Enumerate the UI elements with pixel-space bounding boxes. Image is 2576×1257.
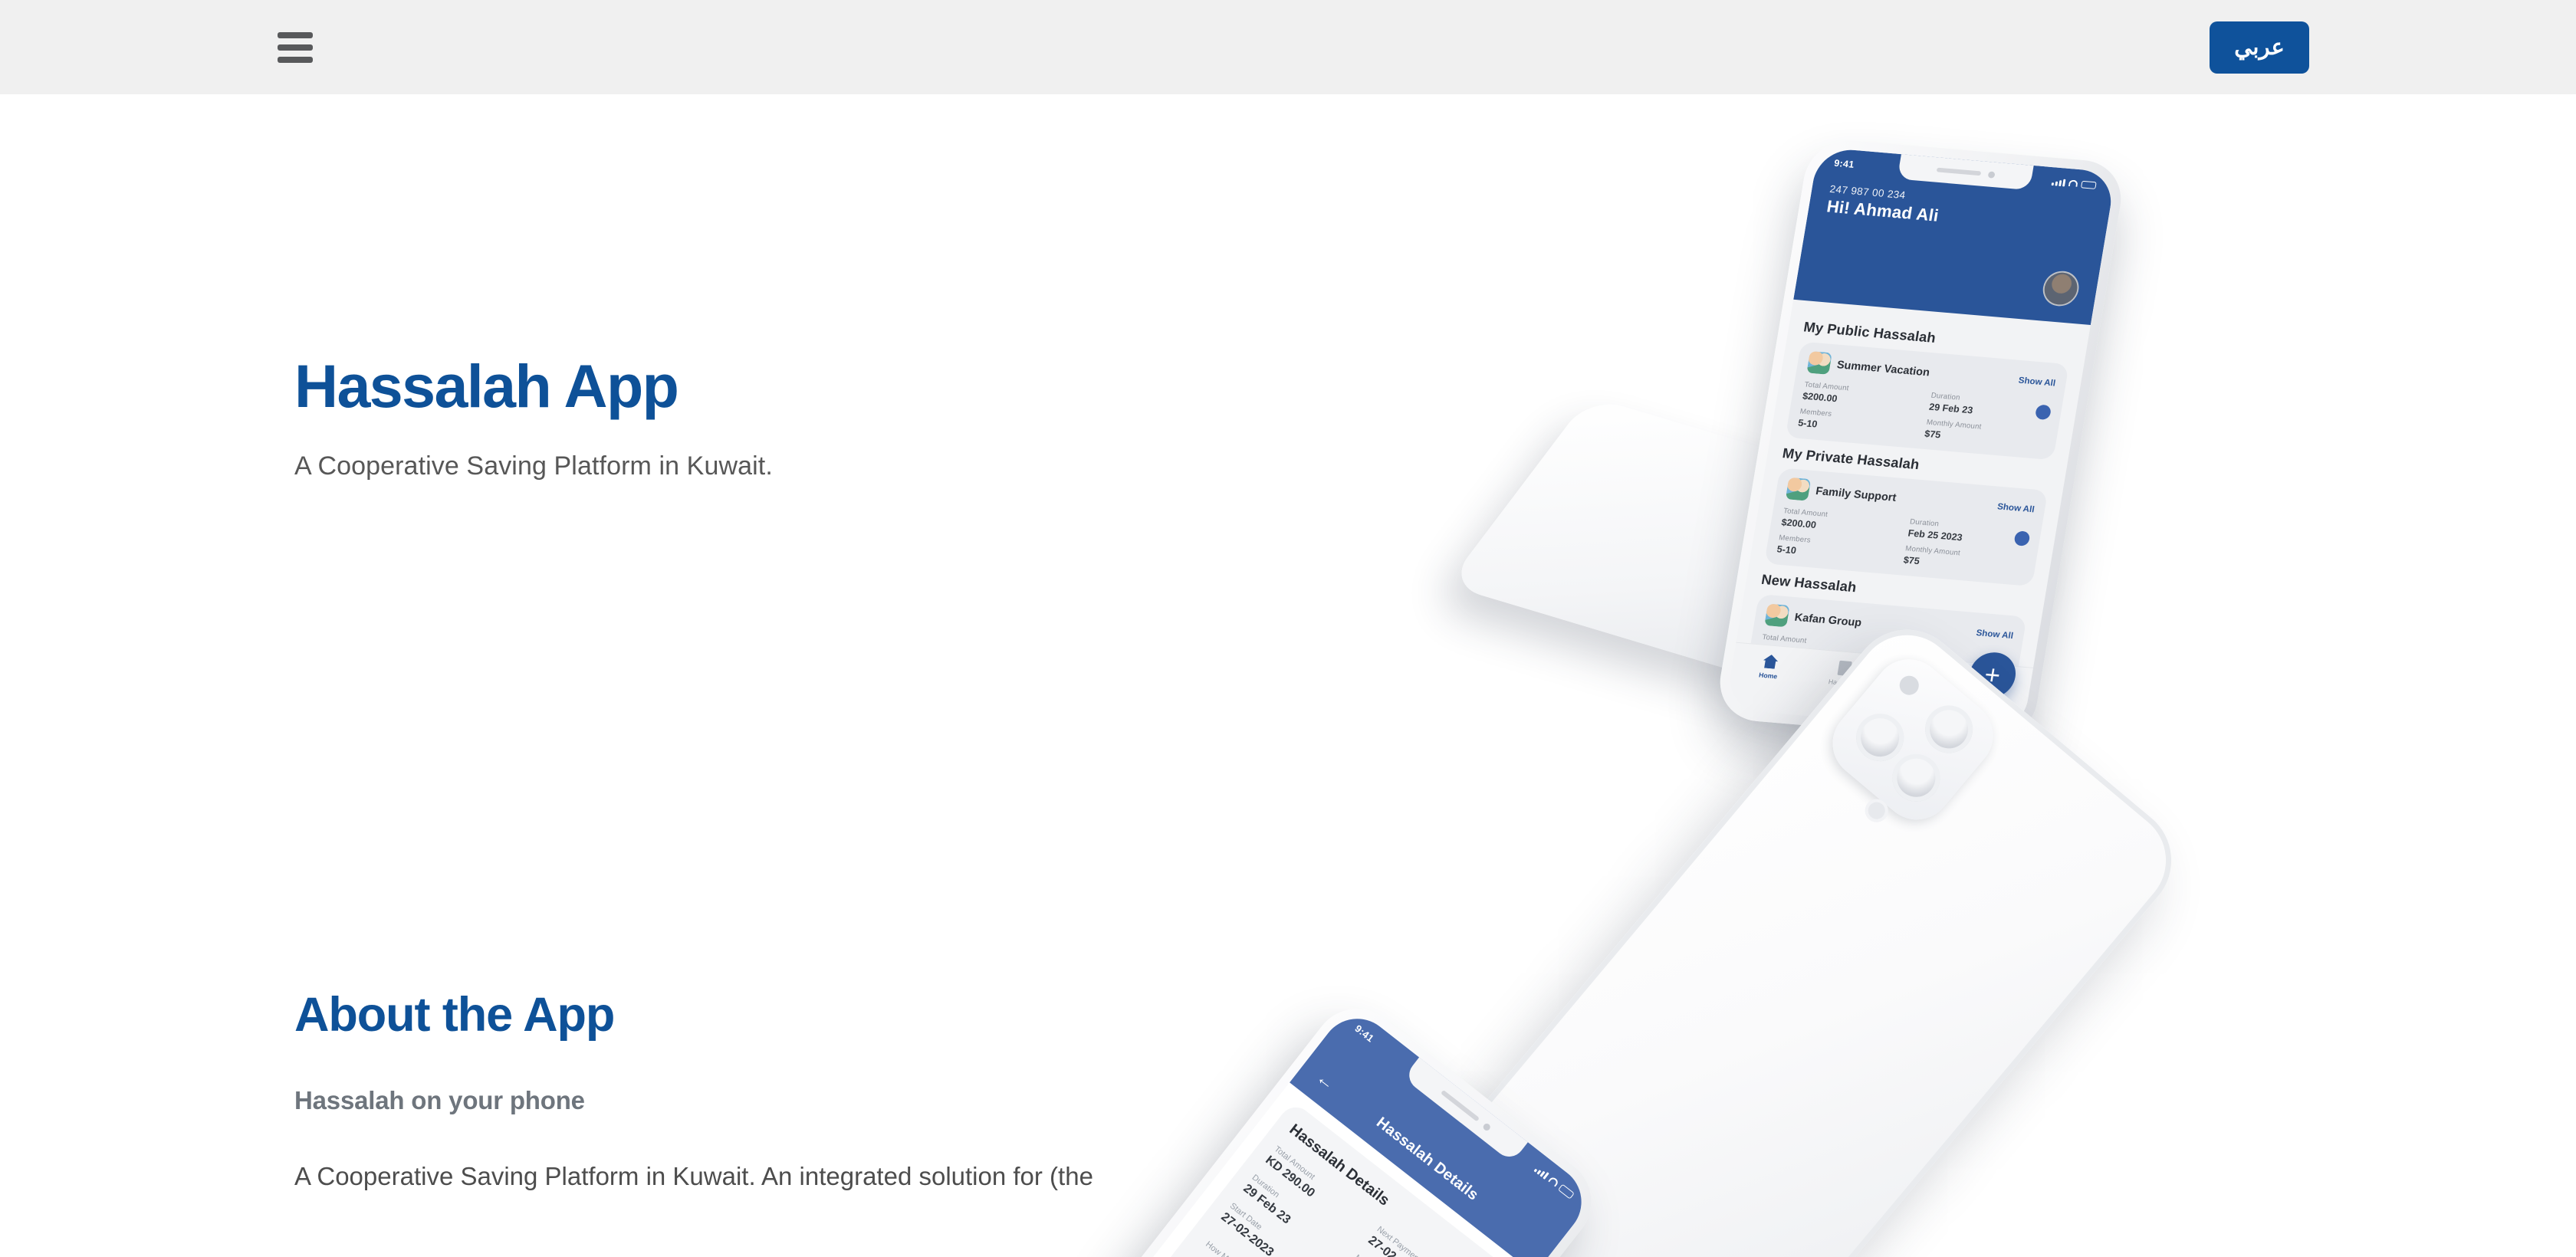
group-avatar-icon (1786, 478, 1812, 501)
group-avatar-icon (1764, 603, 1790, 627)
home-icon (1762, 654, 1779, 669)
site-header: عربي (0, 0, 2576, 94)
hamburger-bar-1 (278, 32, 313, 38)
battery-icon (1558, 1183, 1575, 1199)
flash-icon (1896, 672, 1923, 699)
card-fields: Total Amount$200.00 DurationFeb 25 2023 … (1776, 507, 2032, 576)
wifi-icon (2068, 179, 2078, 187)
field: Total Amount$200.00 (1781, 507, 1905, 538)
card-identity: Summer Vacation (1806, 351, 1931, 383)
field: DurationFeb 25 2023 (1907, 518, 2032, 549)
group-name: Summer Vacation (1836, 358, 1930, 378)
about-title: About the App (294, 990, 1306, 1040)
signal-icon (2052, 178, 2066, 186)
status-icons (2052, 178, 2097, 189)
card-fields: Total Amount$200.00 Duration29 Feb 23 Me… (1797, 381, 2052, 449)
speaker-grille (1936, 168, 1981, 176)
avatar[interactable] (2040, 270, 2081, 307)
field: Monthly Amount$75 (1924, 418, 2048, 449)
about-section: About the App Hassalah on your phone A C… (294, 990, 1306, 1197)
show-all-link[interactable]: Show All (1996, 501, 2035, 514)
wifi-icon (1548, 1176, 1559, 1186)
status-time: 9:41 (1352, 1022, 1376, 1045)
group-avatar-icon (1806, 351, 1832, 375)
about-subheading: Hassalah on your phone (294, 1086, 1306, 1115)
language-toggle-button[interactable]: عربي (2210, 21, 2309, 74)
about-device-mockup: 9:41 ← Hassalah Details Hassalah Details (1303, 723, 2576, 1257)
field: Total Amount$200.00 (1802, 381, 1926, 412)
hassalah-card[interactable]: Family Support Show All Total Amount$200… (1764, 468, 2048, 586)
about-paragraph: A Cooperative Saving Platform in Kuwait.… (294, 1156, 1306, 1196)
hamburger-bar-3 (278, 57, 313, 63)
signal-icon (1534, 1165, 1549, 1180)
hamburger-menu-icon[interactable] (278, 32, 313, 63)
front-camera-icon (1482, 1121, 1492, 1131)
page-title: Hassalah App (294, 355, 1306, 418)
group-name: Family Support (1815, 484, 1897, 504)
page-content: Hassalah App A Cooperative Saving Platfo… (0, 94, 2576, 1257)
front-camera-icon (1987, 171, 1995, 178)
hamburger-bar-2 (278, 44, 313, 51)
field: Monthly Amount$75 (1903, 545, 2027, 576)
card-identity: Kafan Group (1764, 603, 1863, 633)
field: Members5-10 (1776, 534, 1901, 565)
status-time: 9:41 (1833, 157, 1855, 169)
group-name: Kafan Group (1794, 611, 1863, 629)
field: Members5-10 (1797, 408, 1921, 438)
show-all-link[interactable]: Show All (2018, 375, 2056, 388)
hassalah-card[interactable]: Summer Vacation Show All Total Amount$20… (1786, 341, 2069, 460)
camera-module (1819, 645, 2008, 834)
tab-label: Home (1758, 671, 1778, 681)
hero-subtitle: A Cooperative Saving Platform in Kuwait. (294, 451, 1306, 481)
tab-home[interactable]: Home (1742, 652, 1798, 681)
battery-icon (2081, 180, 2097, 189)
card-identity: Family Support (1786, 478, 1898, 509)
show-all-link[interactable]: Show All (1976, 628, 2014, 641)
status-icons (1534, 1165, 1575, 1200)
hero-section: Hassalah App A Cooperative Saving Platfo… (294, 355, 1306, 481)
field: Duration29 Feb 23 (1928, 392, 2052, 422)
camera-lens-icon (1915, 696, 1982, 763)
microphone-icon (1861, 794, 1893, 826)
